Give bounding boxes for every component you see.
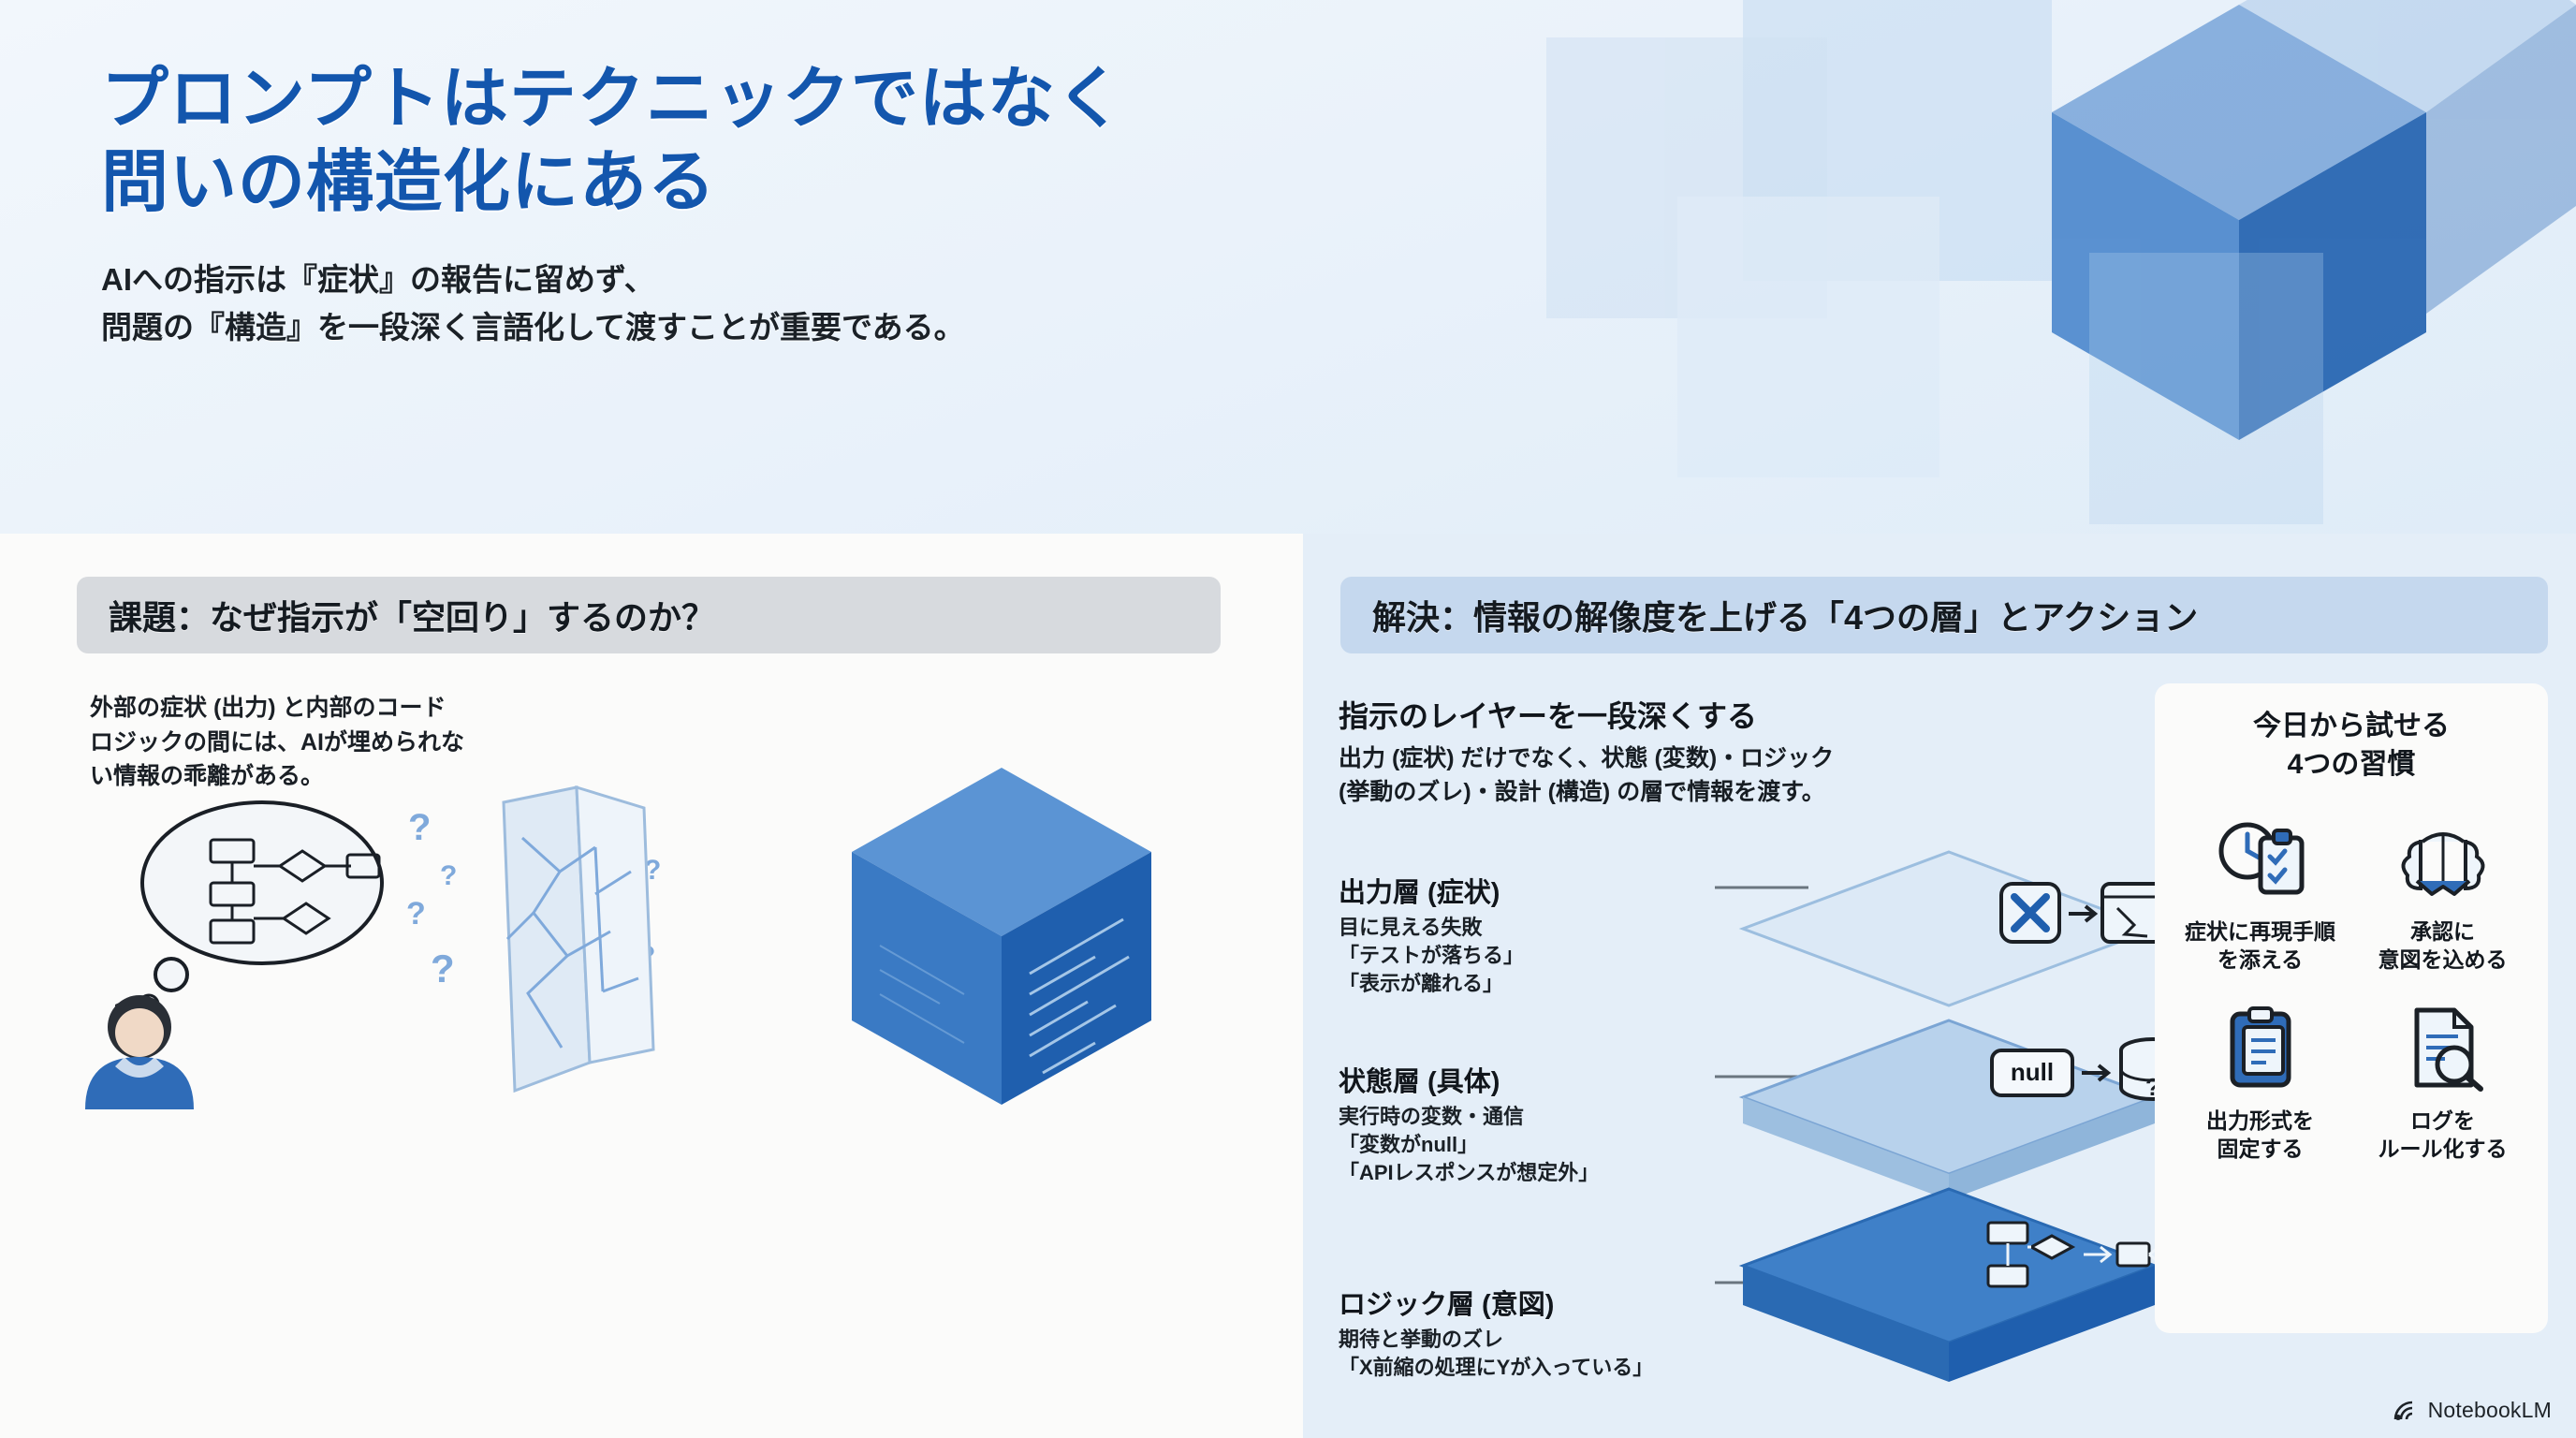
svg-text:?: ? bbox=[408, 807, 431, 848]
layer-title-state: 状態層 (具体) bbox=[1339, 1060, 1732, 1099]
internal-logic-cube bbox=[814, 758, 1189, 1114]
layer-block-output: 出力層 (症状) 目に見える失敗 「テストが落ちる」 「表示が離れる」 bbox=[1339, 871, 1732, 998]
null-chip-label: null bbox=[2011, 1058, 2054, 1086]
problem-panel: 課題：なぜ指示が「空回り」するのか？ 外部の症状 (出力) と内部のコード ロジ… bbox=[0, 534, 1303, 1438]
person-thinking-illustration bbox=[70, 772, 407, 1109]
notebooklm-watermark: NotebookLM bbox=[2393, 1398, 2552, 1423]
content-columns: 課題：なぜ指示が「空回り」するのか？ 外部の症状 (出力) と内部のコード ロジ… bbox=[0, 534, 2576, 1438]
layer-body-logic: 期待と挙動のズレ 「X前縮の処理にYが入っている」 bbox=[1339, 1326, 1732, 1382]
problem-panel-header-label: 課題：なぜ指示が「空回り」するのか？ bbox=[109, 591, 715, 639]
notebooklm-brand-label: NotebookLM bbox=[2428, 1398, 2552, 1423]
thought-bubble-flowchart bbox=[139, 802, 382, 1014]
layer-plane-output bbox=[1743, 852, 2155, 1005]
habit-label: ログを ルール化する bbox=[2378, 1108, 2508, 1164]
layer-block-logic: ロジック層 (意図) 期待と挙動のズレ 「X前縮の処理にYが入っている」 bbox=[1339, 1283, 1732, 1382]
cracked-glass-panel bbox=[504, 787, 653, 1091]
clipboard-document-icon bbox=[2212, 999, 2309, 1096]
hero-title: プロンプトはテクニックではなく 問いの構造化にある bbox=[101, 58, 1599, 224]
habit-label: 承認に 意図を込める bbox=[2378, 918, 2508, 975]
habits-card: 今日から試せる 4つの習慣 症状に再現手順 を添える bbox=[2155, 683, 2548, 1333]
svg-text:?: ? bbox=[440, 860, 457, 891]
layer-plane-logic bbox=[1743, 1189, 2155, 1382]
isometric-cube-decoration bbox=[1528, 0, 2576, 534]
layer-body-state: 実行時の変数・通信 「変数がnull」 「APIレスポンスが想定外」 bbox=[1339, 1103, 1732, 1187]
svg-text:?: ? bbox=[431, 946, 455, 990]
solution-panel: 解決：情報の解像度を上げる「4つの層」とアクション 指示のレイヤーを一段深くする… bbox=[1303, 534, 2576, 1438]
solution-panel-header-label: 解決：情報の解像度を上げる「4つの層」とアクション bbox=[1372, 591, 2198, 639]
layer-block-state: 状態層 (具体) 実行時の変数・通信 「変数がnull」 「APIレスポンスが想… bbox=[1339, 1060, 1732, 1187]
solution-panel-header: 解決：情報の解像度を上げる「4つの層」とアクション bbox=[1340, 577, 2548, 653]
layer-title-logic: ロジック層 (意図) bbox=[1339, 1283, 1732, 1322]
hero-section: プロンプトはテクニックではなく 問いの構造化にある AIへの指示は『症状』の報告… bbox=[0, 0, 2576, 534]
solution-lead-title: 指示のレイヤーを一段深くする bbox=[1339, 693, 1757, 736]
document-magnifier-icon bbox=[2394, 999, 2492, 1096]
hero-text-block: プロンプトはテクニックではなく 問いの構造化にある AIへの指示は『症状』の報告… bbox=[101, 58, 1599, 351]
habit-item[interactable]: 症状に再現手順 を添える bbox=[2172, 810, 2349, 975]
habit-label: 出力形式を 固定する bbox=[2206, 1108, 2314, 1164]
solution-lead-body: 出力 (症状) だけでなく、状態 (変数)・ロジック (挙動のズレ)・設計 (構… bbox=[1339, 741, 1975, 810]
person-figure bbox=[85, 995, 194, 1109]
habit-item[interactable]: 出力形式を 固定する bbox=[2172, 999, 2349, 1164]
svg-text:?: ? bbox=[406, 896, 426, 932]
habits-title: 今日から試せる 4つの習慣 bbox=[2172, 708, 2531, 784]
clock-checklist-icon bbox=[2212, 810, 2309, 907]
infographic-page: プロンプトはテクニックではなく 問いの構造化にある AIへの指示は『症状』の報告… bbox=[0, 0, 2576, 1438]
observability-gap-illustration: ? ? ? ? ? ? ? ? bbox=[402, 782, 796, 1119]
habits-grid: 症状に再現手順 を添える 承認に 意図を込める bbox=[2172, 810, 2531, 1164]
habit-item[interactable]: 承認に 意図を込める bbox=[2354, 810, 2531, 975]
layer-body-output: 目に見える失敗 「テストが落ちる」 「表示が離れる」 bbox=[1339, 914, 1732, 998]
habit-item[interactable]: ログを ルール化する bbox=[2354, 999, 2531, 1164]
problem-panel-header: 課題：なぜ指示が「空回り」するのか？ bbox=[77, 577, 1221, 653]
layer-plane-state bbox=[1743, 1020, 2155, 1200]
hero-subtitle: AIへの指示は『症状』の報告に留めず、 問題の『構造』を一段深く言語化して渡すこ… bbox=[101, 256, 1599, 351]
habit-label: 症状に再現手順 を添える bbox=[2185, 918, 2335, 975]
brain-handshake-icon bbox=[2394, 810, 2492, 907]
layer-title-output: 出力層 (症状) bbox=[1339, 871, 1732, 910]
notebooklm-icon bbox=[2393, 1400, 2419, 1422]
